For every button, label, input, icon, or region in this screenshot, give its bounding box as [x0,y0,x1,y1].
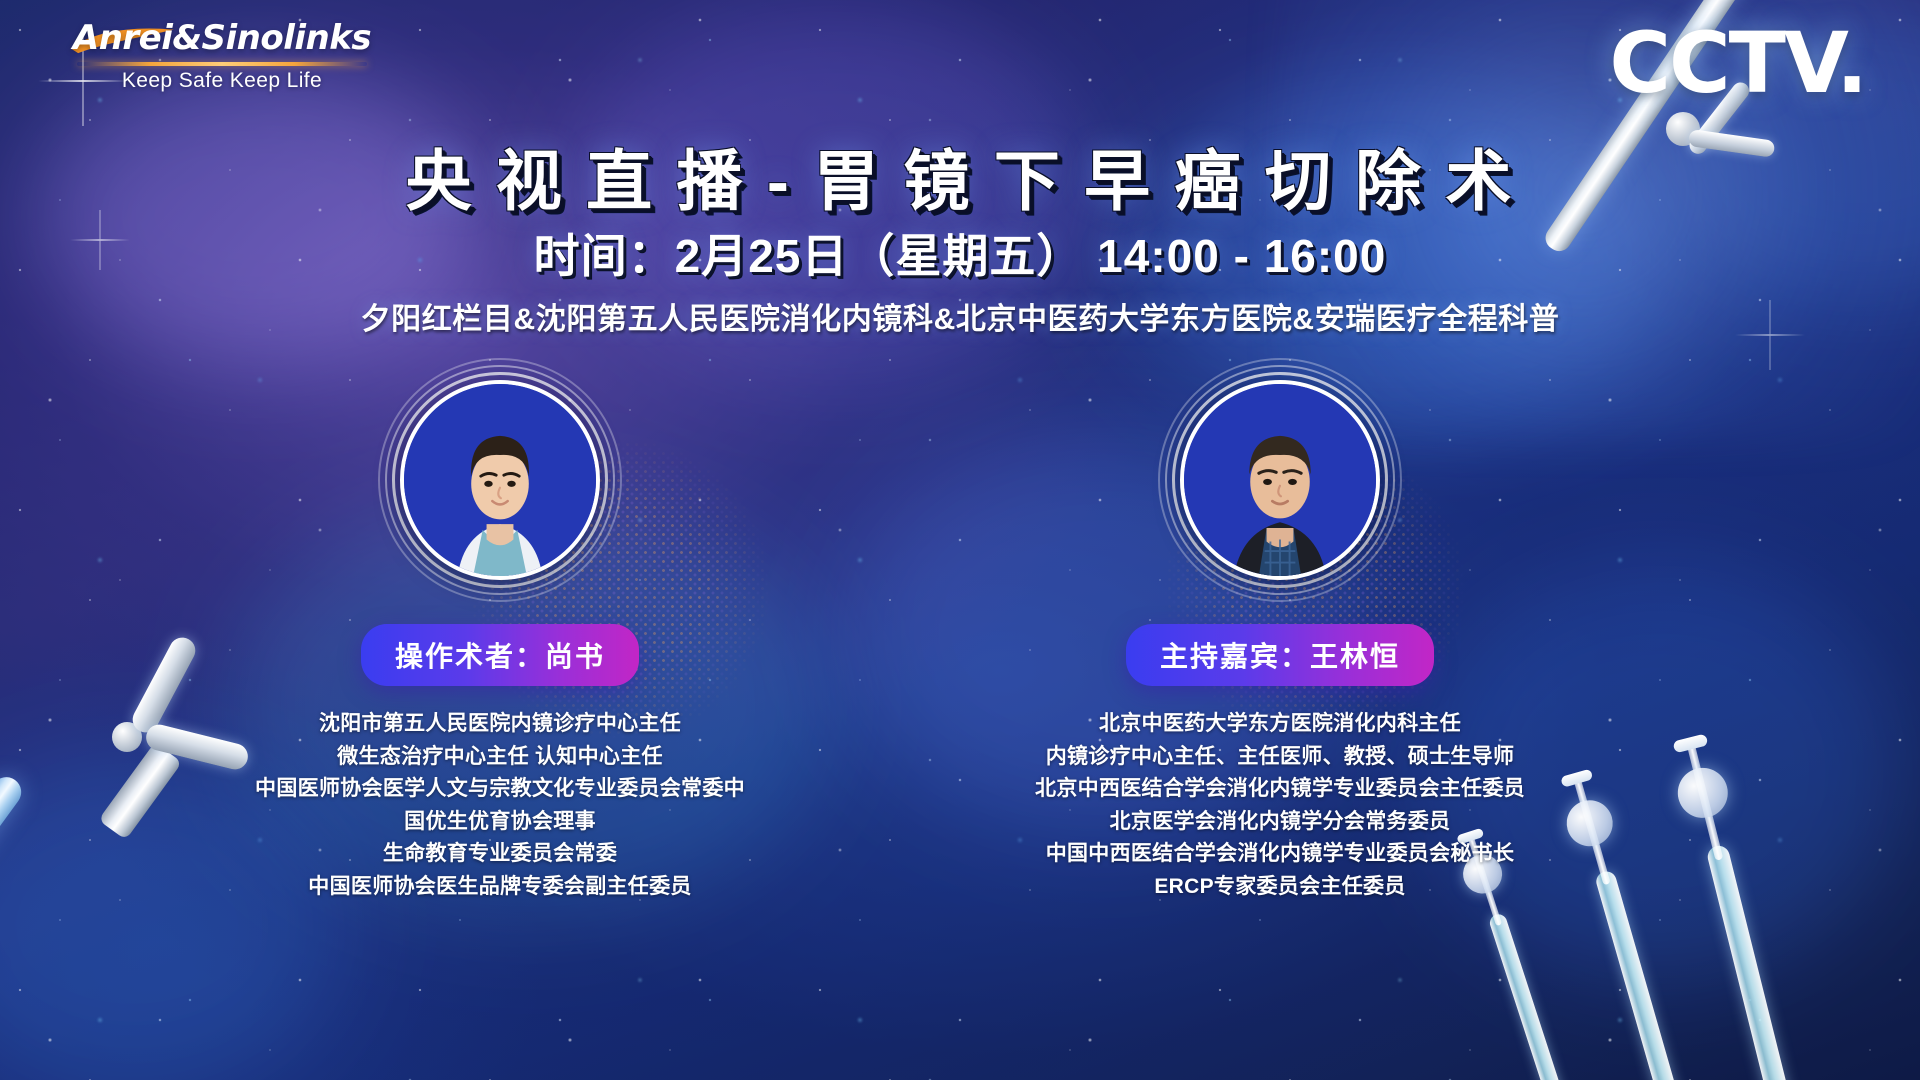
host-portrait-icon [1184,384,1376,576]
role-badge: 主持嘉宾：王林恒 [1126,624,1434,686]
credentials-list: 北京中医药大学东方医院消化内科主任 内镜诊疗中心主任、主任医师、教授、硕士生导师… [1000,708,1560,903]
credential-line: 沈阳市第五人民医院内镜诊疗中心主任 [220,708,780,741]
credential-line: 中国医师协会医生品牌专委会副主任委员 [220,871,780,904]
doctor-portrait-icon [404,384,596,576]
credential-line: 中国中西医结合学会消化内镜学专业委员会秘书长 [1000,838,1560,871]
partner-organizations: 夕阳红栏目&沈阳第五人民医院消化内镜科&北京中医药大学东方医院&安瑞医疗全程科普 [0,294,1920,338]
credential-line: 北京医学会消化内镜学分会常务委员 [1000,806,1560,839]
credential-line: 中国医师协会医学人文与宗教文化专业委员会常委中 [220,773,780,806]
person-card-host: 主持嘉宾：王林恒 北京中医药大学东方医院消化内科主任 内镜诊疗中心主任、主任医师… [1000,380,1560,903]
credential-line: ERCP专家委员会主任委员 [1000,871,1560,904]
brand-logo: Anrei&Sinolinks Keep Safe Keep Life [72,18,372,93]
device-neck [98,742,182,840]
brand-divider [77,62,367,66]
credential-line: 北京中西医结合学会消化内镜学专业委员会主任委员 [1000,773,1560,806]
probe-bulb [1561,795,1618,852]
event-datetime: 时间：2月25日（星期五） 14:00 - 16:00 [0,220,1920,286]
cctv-logo: CCTV. [1609,14,1866,112]
avatar-photo [400,380,600,580]
avatar [400,380,600,580]
avatar [1180,380,1380,580]
credential-line: 北京中医药大学东方医院消化内科主任 [1000,708,1560,741]
probe-tube [1594,869,1690,1080]
role-badge: 操作术者：尚书 [361,624,639,686]
credential-line: 生命教育专业委员会常委 [220,838,780,871]
person-card-operator: 操作术者：尚书 沈阳市第五人民医院内镜诊疗中心主任 微生态治疗中心主任 认知中心… [220,380,780,903]
device-shaft [0,771,27,1080]
page-title: 央 视 直 播 - 胃 镜 下 早 癌 切 除 术 [0,128,1920,224]
avatar-photo [1180,380,1380,580]
credential-line: 微生态治疗中心主任 认知中心主任 [220,741,780,774]
brand-name: Anrei&Sinolinks [72,18,372,58]
credential-line: 国优生优育协会理事 [220,806,780,839]
probe-bulb [1672,763,1733,824]
endoscopic-probe-device [1520,720,1920,1080]
credentials-list: 沈阳市第五人民医院内镜诊疗中心主任 微生态治疗中心主任 认知中心主任 中国医师协… [220,708,780,903]
probe-tube [1705,844,1799,1080]
credential-line: 内镜诊疗中心主任、主任医师、教授、硕士生导师 [1000,741,1560,774]
brand-tagline: Keep Safe Keep Life [72,69,372,93]
